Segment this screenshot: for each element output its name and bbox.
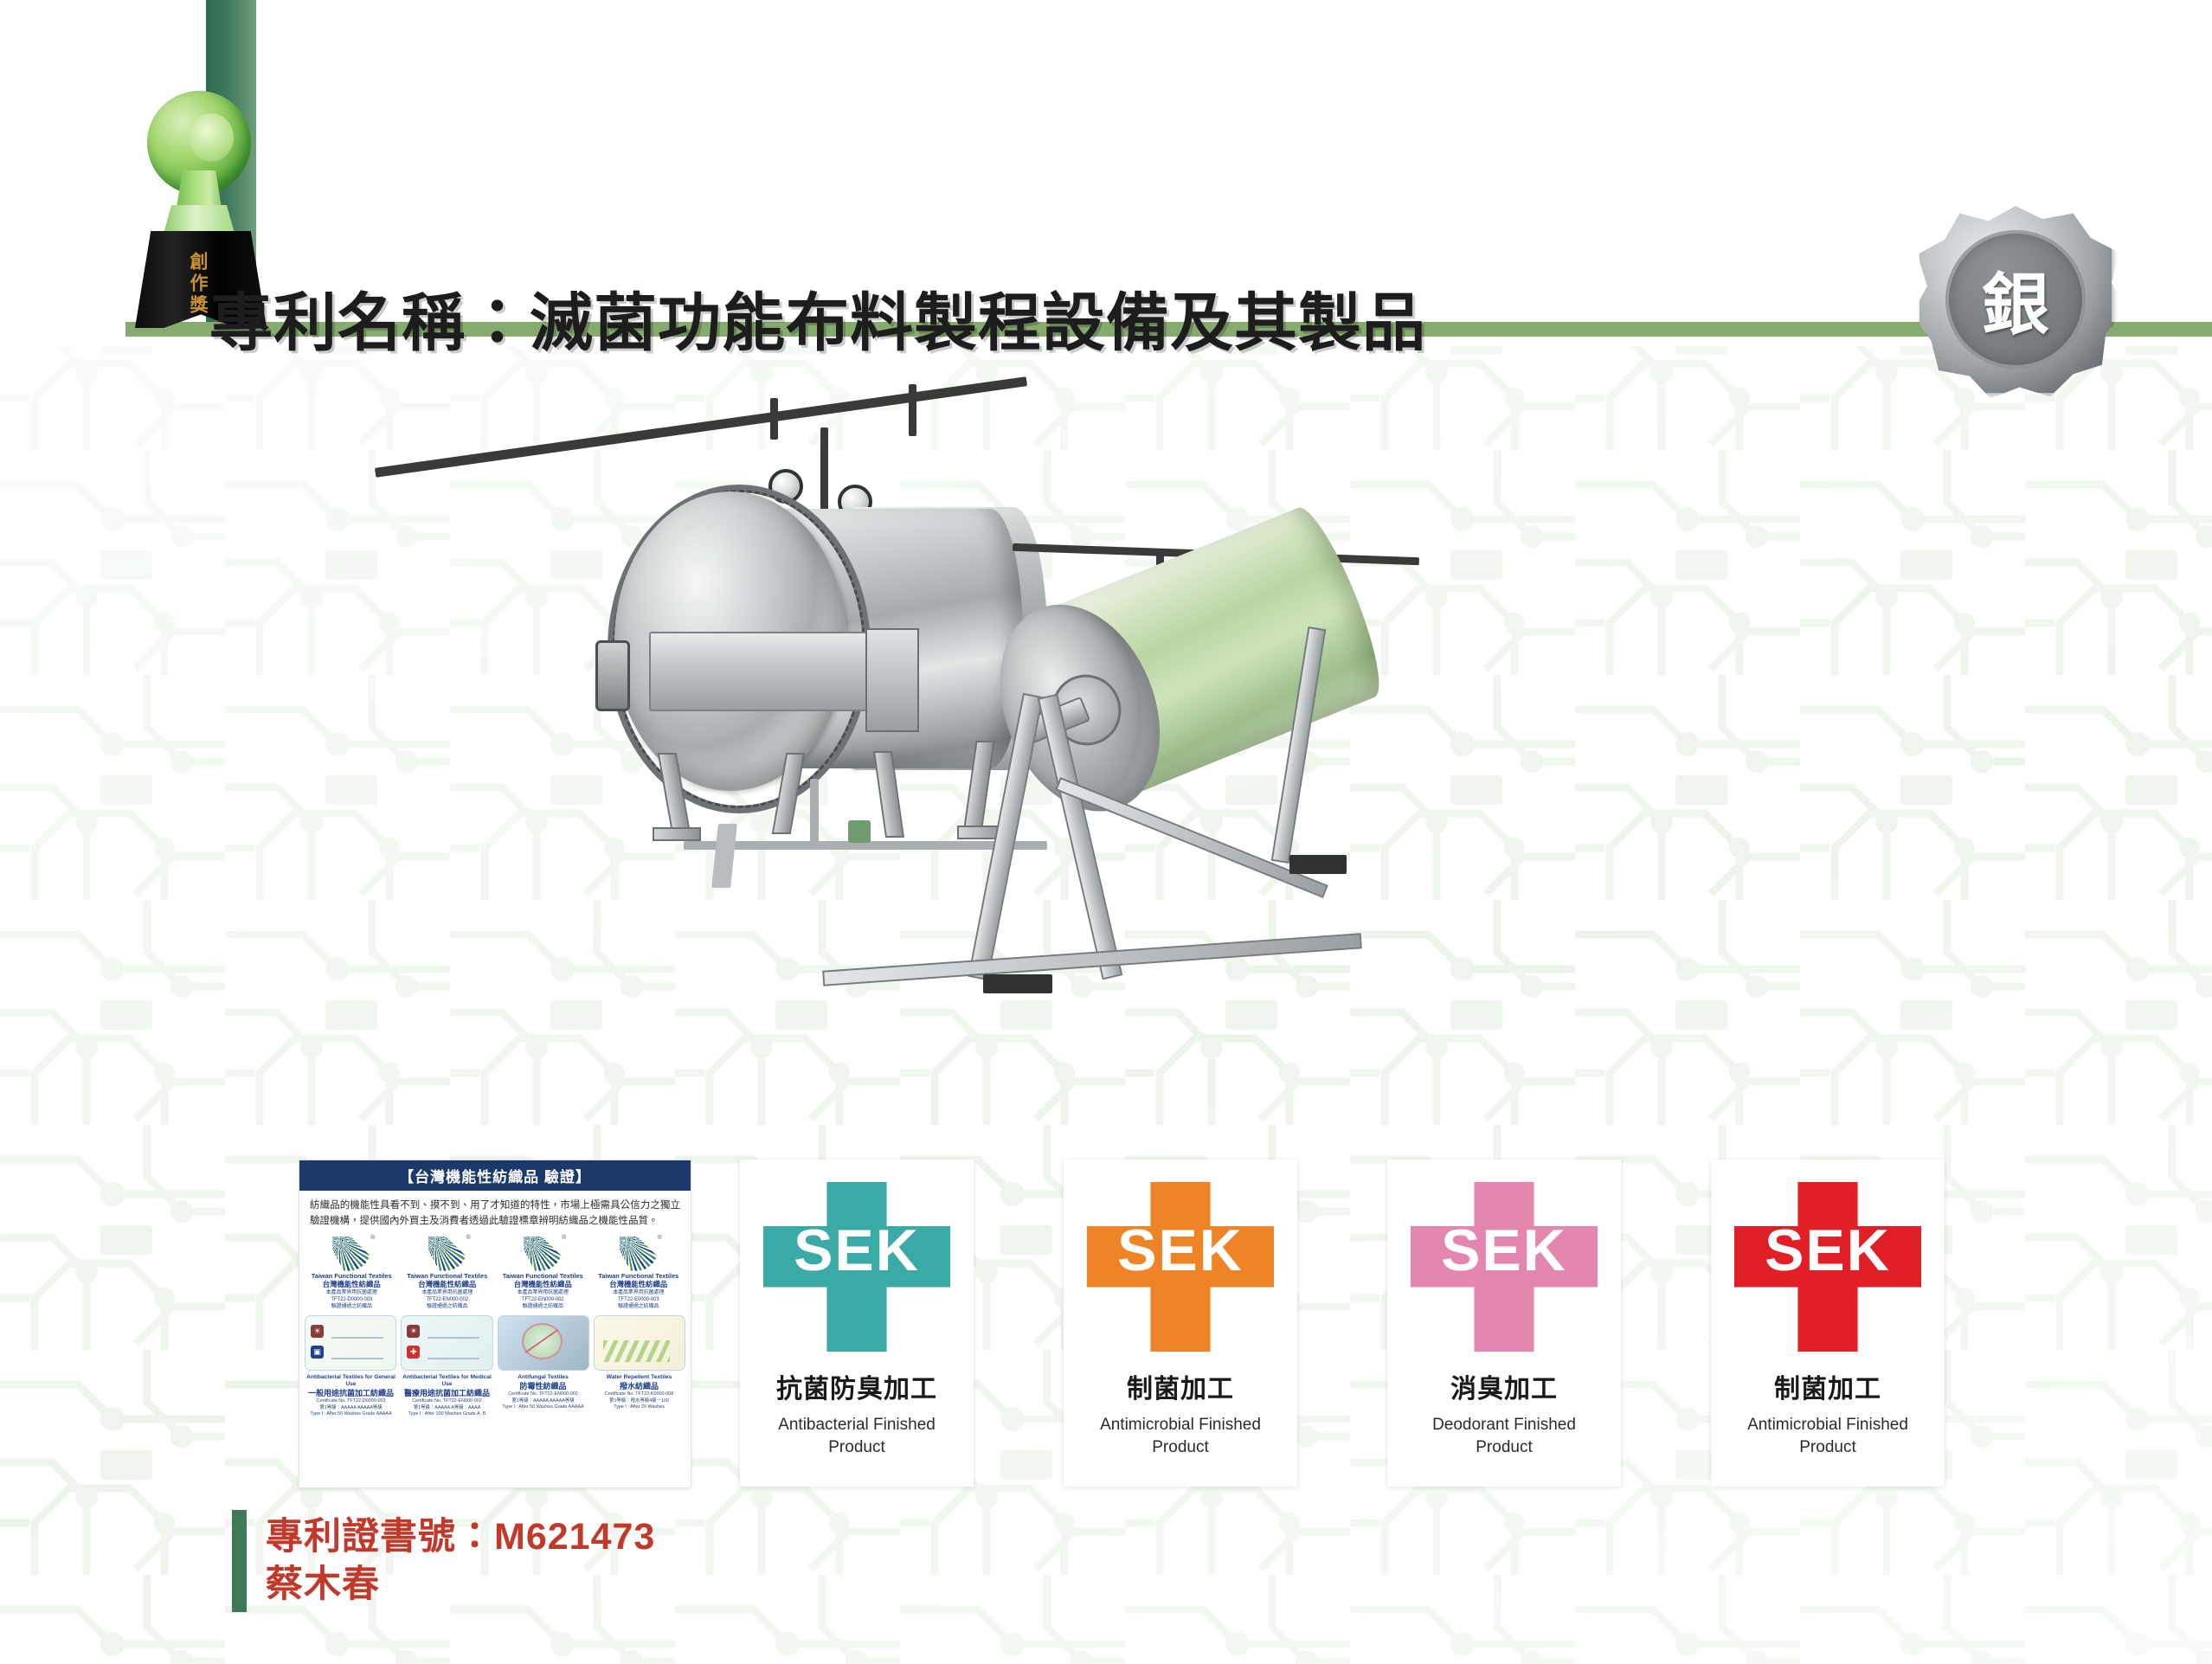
sek-letters: SEK bbox=[1734, 1217, 1921, 1284]
tw-thumbnail-row: ☀ ▣ ☀ ✚ bbox=[299, 1310, 691, 1371]
tw-logo-en: Taiwan Functional Textiles bbox=[401, 1273, 495, 1281]
tw-fan-logo-icon bbox=[620, 1237, 658, 1271]
tw-thumbnail-general-use: ☀ ▣ bbox=[305, 1315, 396, 1371]
tw-caption-cert: Certificate No. TFT22-EN000-002 bbox=[401, 1398, 493, 1404]
tw-thumbnail-antifungal bbox=[498, 1315, 589, 1371]
tw-caption-grade: 第1等級：AAAAA AAAAA等級 bbox=[497, 1398, 589, 1404]
rail-hanger-right bbox=[909, 384, 916, 436]
tw-logo-zh: 台灣機能性紡織品 bbox=[305, 1280, 399, 1289]
tw-code-line3: 驗證通過之紡織品 bbox=[496, 1303, 590, 1310]
tw-logo-cell: ® Taiwan Functional Textiles 台灣機能性紡織品 本產… bbox=[305, 1237, 399, 1311]
trophy-award-label: 創作獎 bbox=[182, 252, 211, 317]
shirt-icon: ▣ bbox=[311, 1346, 324, 1359]
tw-logo-row: ® Taiwan Functional Textiles 台灣機能性紡織品 本產… bbox=[299, 1233, 691, 1311]
tw-caption-en: Antibacterial Textiles for Medical Use bbox=[401, 1374, 493, 1388]
sek-mark: SEK bbox=[1411, 1182, 1598, 1352]
bacteria-icon: ☀ bbox=[407, 1325, 420, 1338]
registered-mark-icon: ® bbox=[658, 1235, 662, 1241]
tw-code-line1: 本產品業界用抗菌處理 bbox=[401, 1289, 495, 1296]
sek-label-en: Antimicrobial Finished Product bbox=[1728, 1414, 1927, 1458]
autoclave-door-band bbox=[649, 632, 886, 711]
sek-card-deodorant: SEK 消臭加工 Deodorant Finished Product bbox=[1387, 1160, 1621, 1487]
autoclave-door-hinge bbox=[865, 628, 919, 732]
patent-footer: 專利證書號：M621473 蔡木春 bbox=[232, 1510, 655, 1612]
tw-caption: Antibacterial Textiles for General Use 一… bbox=[305, 1374, 397, 1417]
sek-letters: SEK bbox=[1411, 1217, 1598, 1284]
drain-outlet bbox=[711, 824, 737, 888]
chart-line bbox=[428, 1358, 479, 1359]
registered-mark-icon: ® bbox=[370, 1235, 375, 1241]
chart-line bbox=[331, 1358, 383, 1359]
stand-foot-left bbox=[983, 974, 1052, 993]
tw-caption-en: Water Repellent Textiles bbox=[593, 1374, 685, 1381]
tw-fan-logo-icon bbox=[332, 1237, 370, 1271]
sek-label-zh: 消臭加工 bbox=[1450, 1367, 1558, 1405]
footer-accent-bar bbox=[232, 1510, 247, 1612]
leaf-pattern-icon bbox=[603, 1340, 670, 1362]
overhead-steam-rail bbox=[375, 376, 1027, 478]
tw-logo-en: Taiwan Functional Textiles bbox=[305, 1273, 399, 1281]
sek-letters: SEK bbox=[1087, 1217, 1274, 1284]
sek-mark: SEK bbox=[1734, 1182, 1921, 1352]
tw-caption-type: Type I : After 20 Washes bbox=[593, 1404, 685, 1410]
tw-code-line3: 驗證通過之紡織品 bbox=[305, 1303, 399, 1310]
sek-letters: SEK bbox=[763, 1217, 950, 1284]
tw-caption-en: Antifungal Textiles bbox=[497, 1374, 589, 1381]
tw-fan-logo-icon bbox=[524, 1237, 562, 1271]
sek-card-antimicrobial-red: SEK 制菌加工 Antimicrobial Finished Product bbox=[1711, 1160, 1945, 1487]
tw-code-line2: TFT22-E0000-003 bbox=[592, 1296, 686, 1303]
autoclave-door-handle bbox=[595, 640, 630, 711]
silver-award-seal: 銀 bbox=[1919, 206, 2112, 393]
sek-mark: SEK bbox=[763, 1182, 950, 1352]
stand-foot-right bbox=[1289, 855, 1347, 874]
sek-card-antimicrobial-orange: SEK 制菌加工 Antimicrobial Finished Product bbox=[1064, 1160, 1297, 1487]
drain-valve bbox=[848, 820, 871, 843]
product-equipment-photo bbox=[563, 346, 1497, 1160]
tw-caption-zh: 撥水紡織品 bbox=[593, 1381, 685, 1391]
sek-label-zh: 抗菌防臭加工 bbox=[776, 1367, 937, 1405]
tw-thumbnail-medical-use: ☀ ✚ bbox=[401, 1315, 492, 1371]
tw-caption: Antifungal Textiles 防霉性紡織品 Certificate N… bbox=[497, 1374, 589, 1417]
sek-label-en: Antibacterial Finished Product bbox=[757, 1414, 956, 1458]
tw-logo-zh: 台灣機能性紡織品 bbox=[401, 1280, 495, 1289]
tw-logo-zh: 台灣機能性紡織品 bbox=[496, 1280, 590, 1289]
tw-logo-zh: 台灣機能性紡織品 bbox=[592, 1280, 686, 1289]
tw-caption-type: Type I : After 50 Washes Grade AAAAA bbox=[305, 1411, 397, 1417]
autoclave-foot-plate-left bbox=[653, 827, 701, 841]
page-title: 專利名稱：滅菌功能布料製程設備及其製品 bbox=[209, 292, 1426, 355]
inventor-name: 蔡木春 bbox=[266, 1561, 655, 1609]
registered-mark-icon: ® bbox=[562, 1235, 566, 1241]
stand-cross-brace bbox=[822, 933, 1362, 986]
sek-certification-row: SEK 抗菌防臭加工 Antibacterial Finished Produc… bbox=[740, 1160, 1945, 1487]
footer-text-group: 專利證書號：M621473 蔡木春 bbox=[266, 1510, 655, 1612]
chart-line bbox=[428, 1337, 479, 1339]
drain-pipe-vertical bbox=[810, 779, 819, 848]
tw-caption-grade: 第1等級：AAAAA AAAAA等級 bbox=[305, 1405, 397, 1411]
tw-caption-cert: Certificate No. TFT22-K0000-008 bbox=[593, 1391, 685, 1397]
tw-code-line2: TFT22-D0000-003 bbox=[305, 1296, 399, 1303]
tw-caption-type: Type I : After 100 Washes Grade A, B bbox=[401, 1411, 493, 1417]
tw-panel-description: 紡織品的機能性具看不到、摸不到、用了才知道的特性，市場上極需具公信力之獨立驗證機… bbox=[299, 1191, 691, 1233]
tw-caption: Water Repellent Textiles 撥水紡織品 Certifica… bbox=[593, 1374, 685, 1417]
tw-caption-zh: 防霉性紡織品 bbox=[497, 1381, 589, 1391]
medical-cross-icon: ✚ bbox=[407, 1346, 420, 1359]
bacteria-icon: ☀ bbox=[311, 1325, 324, 1338]
tw-code-line1: 本產品業界用抗菌處理 bbox=[496, 1289, 590, 1296]
petri-dish-icon bbox=[522, 1323, 563, 1359]
sek-label-zh: 制菌加工 bbox=[1127, 1367, 1234, 1405]
tw-caption: Antibacterial Textiles for Medical Use 醫… bbox=[401, 1374, 493, 1417]
chart-line bbox=[331, 1337, 383, 1339]
tw-caption-grade: 第1等級：撥水等級4級－100 bbox=[593, 1398, 685, 1404]
rail-hanger-left bbox=[770, 398, 778, 440]
tw-caption-row: Antibacterial Textiles for General Use 一… bbox=[299, 1371, 691, 1417]
tw-code-line1: 本產品業界用抗菌處理 bbox=[592, 1289, 686, 1296]
tw-code-line2: TFT22-EN000-002 bbox=[496, 1296, 590, 1303]
tw-logo-en: Taiwan Functional Textiles bbox=[496, 1273, 590, 1281]
sek-mark: SEK bbox=[1087, 1182, 1274, 1352]
tw-code-line3: 驗證通過之紡織品 bbox=[401, 1303, 495, 1310]
tw-caption-type: Type I : After 50 Washes Grade AAAAA bbox=[497, 1404, 589, 1410]
tw-caption-zh: 一般用途抗菌加工紡織品 bbox=[305, 1388, 397, 1398]
registered-mark-icon: ® bbox=[466, 1235, 471, 1241]
sek-label-zh: 制菌加工 bbox=[1774, 1367, 1881, 1405]
tw-caption-zh: 醫療用途抗菌加工紡織品 bbox=[401, 1388, 493, 1398]
tw-caption-en: Antibacterial Textiles for General Use bbox=[305, 1374, 397, 1388]
tw-logo-cell: ® Taiwan Functional Textiles 台灣機能性紡織品 本產… bbox=[592, 1237, 686, 1311]
tw-logo-en: Taiwan Functional Textiles bbox=[592, 1273, 686, 1281]
tw-caption-grade: 第1等級：AAAAA A等級：AAAA bbox=[401, 1405, 493, 1411]
tw-panel-header: 【台灣機能性紡織品 驗證】 bbox=[299, 1160, 691, 1191]
patent-certificate-number: 專利證書號：M621473 bbox=[266, 1513, 655, 1561]
seal-rank-label: 銀 bbox=[1919, 206, 2112, 393]
tw-thumbnail-water-repellent bbox=[594, 1315, 685, 1371]
tw-logo-cell: ® Taiwan Functional Textiles 台灣機能性紡織品 本產… bbox=[401, 1237, 495, 1311]
tw-code-line2: TFT22-EN000-002 bbox=[401, 1296, 495, 1303]
sek-label-en: Deodorant Finished Product bbox=[1405, 1414, 1604, 1458]
tw-code-line3: 驗證通過之紡織品 bbox=[592, 1303, 686, 1310]
tw-code-line1: 本產品業界用抗菌處理 bbox=[305, 1289, 399, 1296]
taiwan-functional-textiles-panel: 【台灣機能性紡織品 驗證】 紡織品的機能性具看不到、摸不到、用了才知道的特性，市… bbox=[299, 1160, 691, 1488]
tw-fan-logo-icon bbox=[428, 1237, 466, 1271]
sek-label-en: Antimicrobial Finished Product bbox=[1081, 1414, 1280, 1458]
tw-caption-cert: Certificate No. TFT22-D0000-003 bbox=[305, 1398, 397, 1404]
tw-logo-cell: ® Taiwan Functional Textiles 台灣機能性紡織品 本產… bbox=[496, 1237, 590, 1311]
sek-card-antibacterial: SEK 抗菌防臭加工 Antibacterial Finished Produc… bbox=[740, 1160, 974, 1487]
tw-caption-cert: Certificate No. TFT22-EN000-002 bbox=[497, 1391, 589, 1397]
